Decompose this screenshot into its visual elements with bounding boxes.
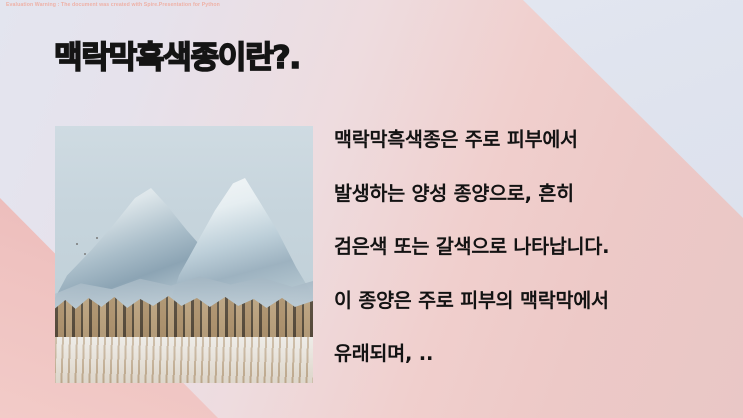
- snowfield-shape: [55, 337, 313, 383]
- body-line: 이 종양은 주로 피부의 맥락막에서: [334, 291, 734, 311]
- mountain-photo: [55, 126, 313, 383]
- body-line: 발생하는 양성 종양으로, 흔히: [334, 184, 734, 204]
- body-line: 검은색 또는 갈색으로 나타납니다.: [334, 237, 734, 257]
- body-text-block: 맥락막흑색종은 주로 피부에서 발생하는 양성 종양으로, 흔히 검은색 또는 …: [334, 130, 734, 364]
- slide-canvas: Evaluation Warning : The document was cr…: [0, 0, 743, 418]
- page-title: 맥락막흑색종이란?.: [54, 42, 300, 75]
- body-line: 유래되며, ..: [334, 344, 734, 364]
- mountain-photo-image: [55, 126, 313, 383]
- body-line: 맥락막흑색종은 주로 피부에서: [334, 130, 734, 150]
- evaluation-warning-watermark: Evaluation Warning : The document was cr…: [6, 2, 220, 8]
